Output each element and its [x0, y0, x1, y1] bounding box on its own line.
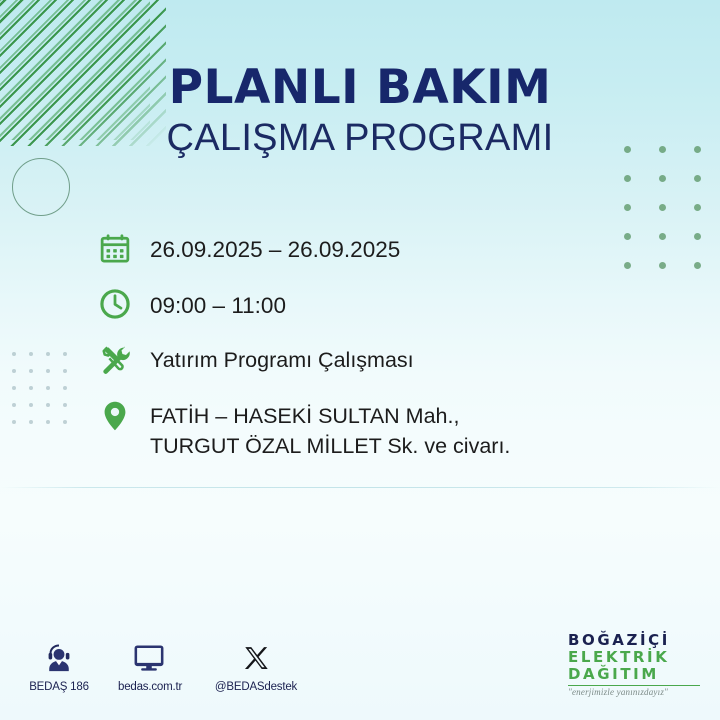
circle-outline-decoration — [12, 158, 70, 216]
detail-row-work-type: Yatırım Programı Çalışması — [98, 340, 658, 380]
support-agent-icon — [28, 640, 90, 676]
section-divider — [0, 487, 720, 488]
contact-website-label: bedas.com.tr — [118, 681, 180, 693]
detail-row-time: 09:00 – 11:00 — [98, 284, 658, 324]
detail-text-location: FATİH – HASEKİ SULTAN Mah., TURGUT ÖZAL … — [150, 396, 510, 461]
contact-x-social[interactable]: @BEDASdestek — [208, 640, 304, 693]
tools-icon — [98, 340, 138, 380]
title-subtitle: ÇALIŞMA PROGRAMI — [0, 118, 720, 160]
footer-contacts: BEDAŞ 186 bedas.com.tr @BEDASdestek — [28, 640, 332, 693]
clock-icon — [98, 284, 138, 324]
detail-row-location: FATİH – HASEKİ SULTAN Mah., TURGUT ÖZAL … — [98, 396, 658, 461]
brand-logo: BOĞAZİÇİ ELEKTRİK DAĞITIM "enerjimizle y… — [568, 632, 704, 697]
monitor-icon — [118, 640, 180, 676]
contact-website[interactable]: bedas.com.tr — [118, 640, 180, 693]
brand-underline — [568, 685, 700, 686]
contact-phone[interactable]: BEDAŞ 186 — [28, 640, 90, 693]
outage-details-list: 26.09.2025 – 26.09.2025 09:00 – 11:00 — [98, 228, 658, 461]
detail-text-work-type: Yatırım Programı Çalışması — [150, 340, 414, 376]
brand-line-dagitim: DAĞITIM — [568, 666, 704, 683]
x-twitter-icon — [208, 640, 304, 676]
title-main: PLANLI BAKIM — [0, 64, 720, 112]
planned-maintenance-poster: PLANLI BAKIM ÇALIŞMA PROGRAMI — [0, 0, 720, 720]
brand-line-bogazici: BOĞAZİÇİ — [568, 632, 704, 649]
dot-grid-left-decoration — [12, 352, 80, 437]
brand-tagline: "enerjimizle yanınızdayız" — [568, 687, 704, 697]
page-title: PLANLI BAKIM ÇALIŞMA PROGRAMI — [0, 64, 720, 160]
detail-text-date: 26.09.2025 – 26.09.2025 — [150, 228, 400, 265]
contact-x-label: @BEDASdestek — [208, 681, 304, 693]
detail-text-time: 09:00 – 11:00 — [150, 284, 286, 321]
brand-line-elektrik: ELEKTRİK — [568, 649, 704, 666]
contact-phone-label: BEDAŞ 186 — [28, 681, 90, 693]
location-pin-icon — [98, 396, 138, 436]
calendar-icon — [98, 228, 138, 268]
detail-row-date: 26.09.2025 – 26.09.2025 — [98, 228, 658, 268]
